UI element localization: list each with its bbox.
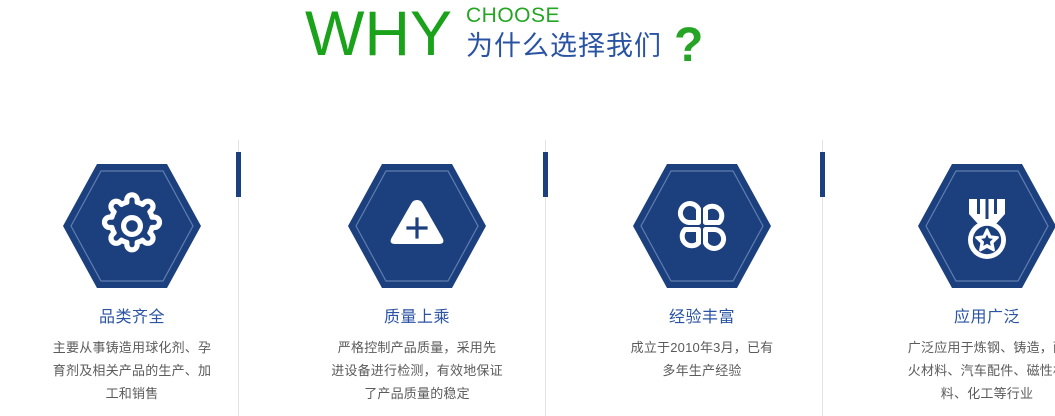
features-row: 品类齐全 主要从事铸造用球化剂、孕 育剂及相关产品的生产、加 工和销售 质量上乘… xyxy=(0,140,1055,416)
feature-card-4[interactable]: 应用广泛 广泛应用于炼钢、铸造，耐 火材料、汽车配件、磁性材 料、化工等行业 xyxy=(855,140,1055,416)
feature-desc-line: 料、化工等行业 xyxy=(869,382,1055,405)
feature-card-3[interactable]: 经验丰富 成立于2010年3月，已有 多年生产经验 xyxy=(570,140,834,416)
feature-desc-line: 火材料、汽车配件、磁性材 xyxy=(869,359,1055,382)
heading-choose: CHOOSE xyxy=(466,4,662,28)
feature-desc-line: 多年生产经验 xyxy=(580,359,824,382)
hex-badge xyxy=(632,162,772,290)
triangle-plus-icon xyxy=(347,162,487,290)
feature-description: 主要从事铸造用球化剂、孕 育剂及相关产品的生产、加 工和销售 xyxy=(10,336,254,405)
hex-badge xyxy=(917,162,1055,290)
feature-desc-line: 主要从事铸造用球化剂、孕 xyxy=(10,336,254,359)
feature-card-1[interactable]: 品类齐全 主要从事铸造用球化剂、孕 育剂及相关产品的生产、加 工和销售 xyxy=(0,140,264,416)
clover-icon xyxy=(632,162,772,290)
feature-desc-line: 进设备进行检测，有效地保证 xyxy=(295,359,539,382)
heading-text-stack: CHOOSE 为什么选择我们 xyxy=(466,4,662,62)
feature-title: 质量上乘 xyxy=(285,308,549,328)
feature-desc-line: 成立于2010年3月，已有 xyxy=(580,336,824,359)
feature-desc-line: 育剂及相关产品的生产、加 xyxy=(10,359,254,382)
gear-icon xyxy=(62,162,202,290)
feature-title: 应用广泛 xyxy=(855,308,1055,328)
feature-description: 严格控制产品质量，采用先 进设备进行检测，有效地保证 了产品质量的稳定 xyxy=(295,336,539,405)
feature-desc-line: 广泛应用于炼钢、铸造，耐 xyxy=(869,336,1055,359)
feature-desc-line: 了产品质量的稳定 xyxy=(295,382,539,405)
heading-chinese-title: 为什么选择我们 xyxy=(466,30,662,62)
medal-icon xyxy=(917,162,1055,290)
section-heading: WHY CHOOSE 为什么选择我们 ? xyxy=(0,0,1055,95)
feature-title: 品类齐全 xyxy=(0,308,264,328)
feature-description: 广泛应用于炼钢、铸造，耐 火材料、汽车配件、磁性材 料、化工等行业 xyxy=(869,336,1055,405)
heading-why: WHY xyxy=(305,2,452,66)
heading-question-mark: ? xyxy=(674,22,703,70)
feature-description: 成立于2010年3月，已有 多年生产经验 xyxy=(580,336,824,382)
feature-title: 经验丰富 xyxy=(570,308,834,328)
feature-desc-line: 工和销售 xyxy=(10,382,254,405)
feature-desc-line: 严格控制产品质量，采用先 xyxy=(295,336,539,359)
hex-badge xyxy=(62,162,202,290)
hex-badge xyxy=(347,162,487,290)
feature-card-2[interactable]: 质量上乘 严格控制产品质量，采用先 进设备进行检测，有效地保证 了产品质量的稳定 xyxy=(285,140,549,416)
heading-inner: WHY CHOOSE 为什么选择我们 ? xyxy=(305,2,703,70)
